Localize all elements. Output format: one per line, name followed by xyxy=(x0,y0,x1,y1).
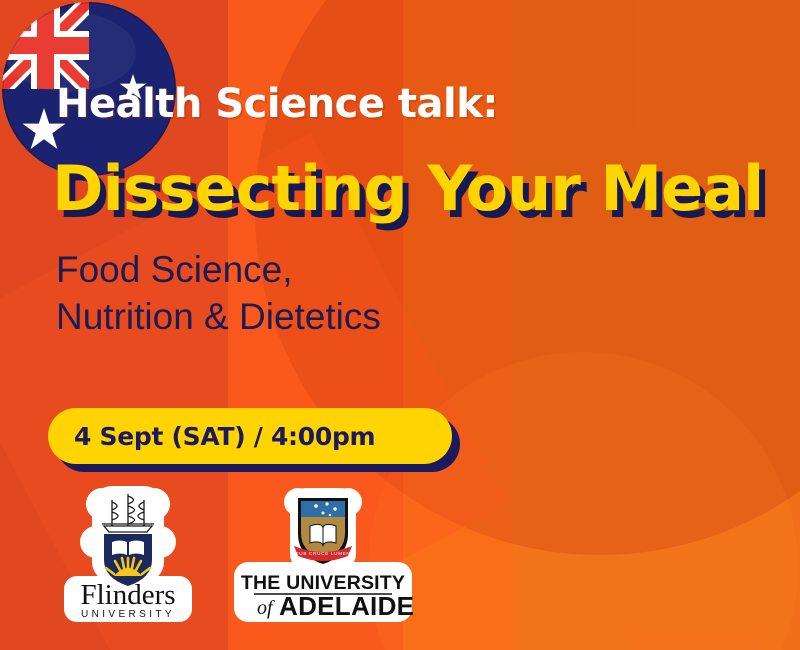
poster-canvas: Health Science talk: Dissecting Your Mea… xyxy=(0,0,800,650)
flinders-wordmark: Flinders xyxy=(80,579,175,611)
content-layer: Health Science talk: Dissecting Your Mea… xyxy=(0,0,800,650)
subtitle-line-1: Food Science, xyxy=(56,246,381,293)
adelaide-crest: SUB CRUCE LUMEN xyxy=(294,498,352,564)
date-time-text: 4 Sept (SAT) / 4:00pm xyxy=(48,422,375,451)
subtitle-block: Food Science, Nutrition & Dietetics xyxy=(56,246,381,341)
date-time-pill-body: 4 Sept (SAT) / 4:00pm xyxy=(48,408,452,464)
adelaide-line-2-of: of xyxy=(257,597,275,619)
svg-text:SUB CRUCE LUMEN: SUB CRUCE LUMEN xyxy=(296,551,351,556)
date-time-pill: 4 Sept (SAT) / 4:00pm xyxy=(48,408,452,464)
adelaide-book-icon xyxy=(310,524,336,545)
flinders-subword: UNIVERSITY xyxy=(81,609,175,620)
flinders-university-logo: Flinders UNIVERSITY xyxy=(62,480,194,628)
subtitle-line-2: Nutrition & Dietetics xyxy=(56,293,381,340)
flinders-book-icon xyxy=(112,541,144,556)
adelaide-university-logo: SUB CRUCE LUMEN THE UNIVERSITY of ADELAI… xyxy=(232,484,414,626)
kicker-text: Health Science talk: xyxy=(56,84,498,124)
adelaide-line-2: ADELAIDE xyxy=(279,591,414,621)
page-title: Dissecting Your Meal xyxy=(52,158,763,220)
